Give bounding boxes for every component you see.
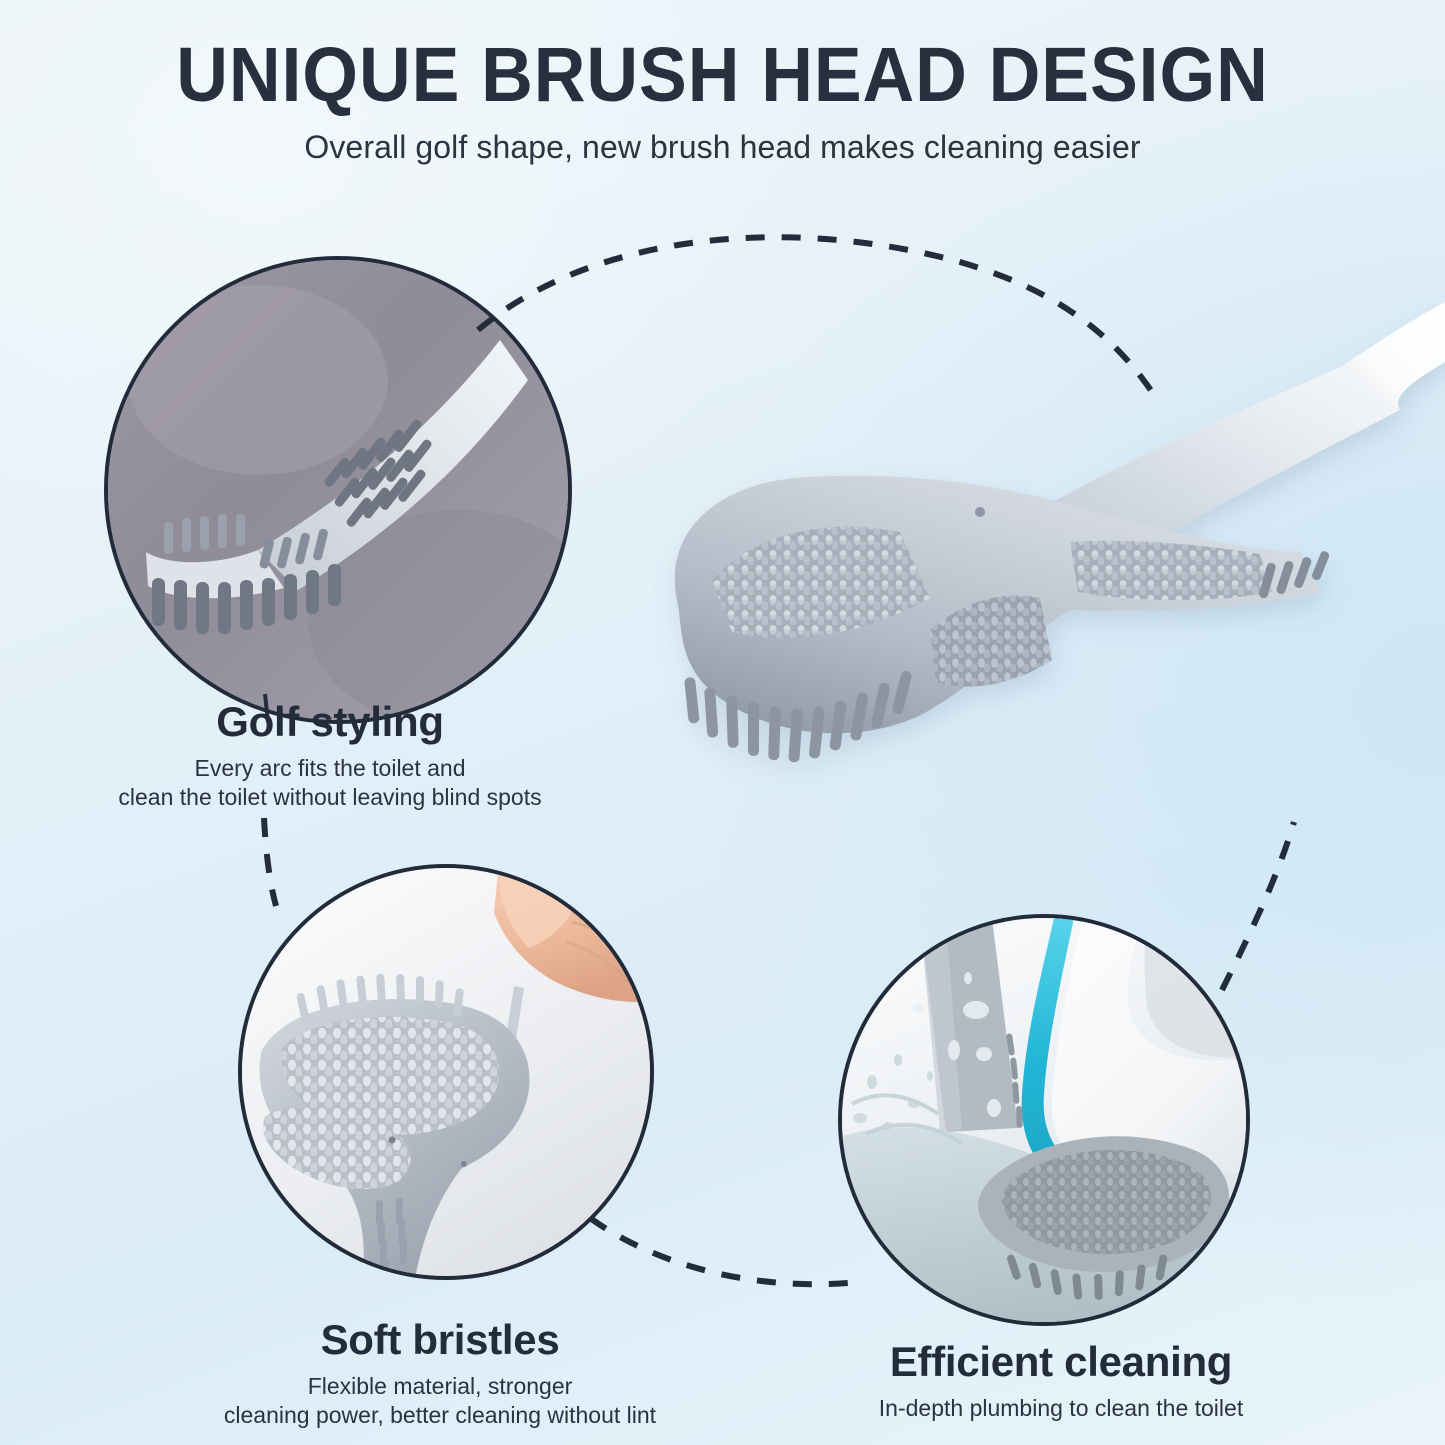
golf-styling-photo [108,260,572,724]
caption-desc-line1: Flexible material, stronger [170,1372,710,1401]
efficient-cleaning-photo [842,918,1250,1326]
feature-circle-soft-bristles [238,864,654,1280]
caption-desc-line1: Every arc fits the toilet and [60,754,600,783]
caption-desc-line2: clean the toilet without leaving blind s… [60,783,600,812]
caption-title: Golf styling [60,700,600,744]
soft-bristles-photo [242,868,654,1280]
caption-desc-line1: In-depth plumbing to clean the toilet [826,1394,1296,1423]
page-title: UNIQUE BRUSH HEAD DESIGN [51,36,1395,115]
feature-circle-efficient-cleaning [838,914,1250,1326]
caption-desc-line2: cleaning power, better cleaning without … [170,1401,710,1430]
hero-product-image [600,280,1445,840]
page-subtitle: Overall golf shape, new brush head makes… [0,129,1445,166]
feature-circle-golf-styling [104,256,572,724]
surface-speck-2 [461,1161,467,1167]
brush-illustration [600,280,1445,840]
infographic-page: UNIQUE BRUSH HEAD DESIGN Overall golf sh… [0,0,1445,1445]
header: UNIQUE BRUSH HEAD DESIGN Overall golf sh… [0,36,1445,166]
caption-efficient-cleaning: Efficient cleaning In-depth plumbing to … [826,1340,1296,1423]
caption-soft-bristles: Soft bristles Flexible material, stronge… [170,1318,710,1430]
caption-title: Efficient cleaning [826,1340,1296,1384]
surface-speck [389,1137,396,1144]
hang-hole [975,507,985,517]
caption-title: Soft bristles [170,1318,710,1362]
caption-golf-styling: Golf styling Every arc fits the toilet a… [60,700,600,812]
